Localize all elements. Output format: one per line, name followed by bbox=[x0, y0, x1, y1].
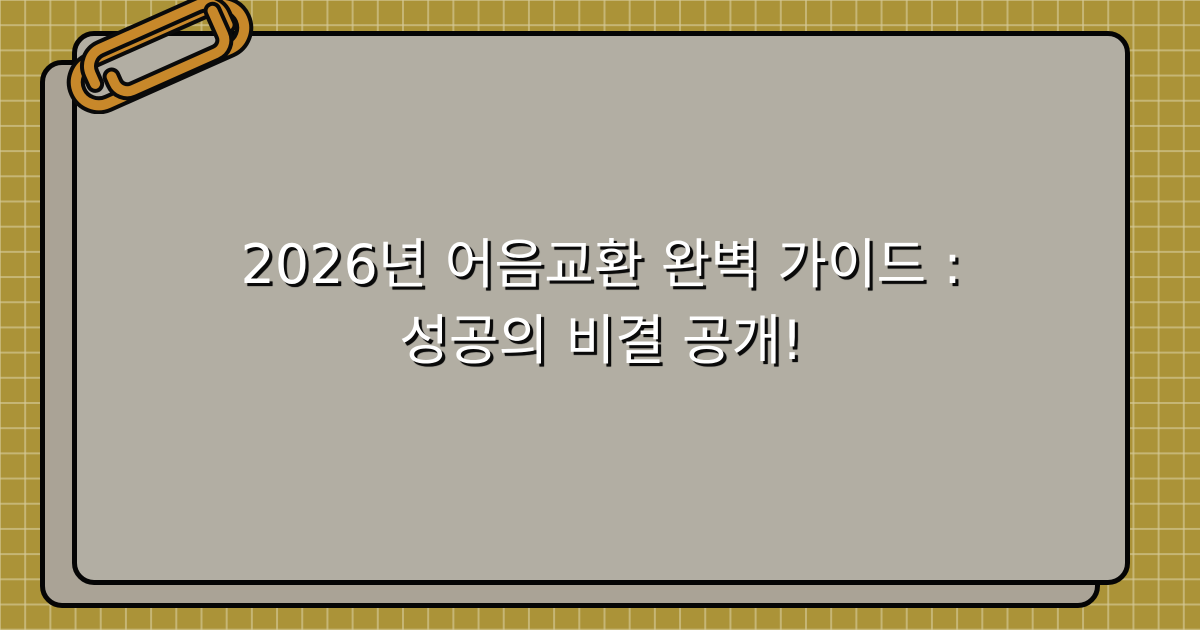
card-front-layer: 2026년 어음교환 완벽 가이드 : 성공의 비결 공개! bbox=[72, 31, 1130, 585]
thumbnail-canvas: 2026년 어음교환 완벽 가이드 : 성공의 비결 공개! bbox=[0, 0, 1200, 630]
page-title: 2026년 어음교환 완벽 가이드 : 성공의 비결 공개! bbox=[77, 227, 1125, 379]
